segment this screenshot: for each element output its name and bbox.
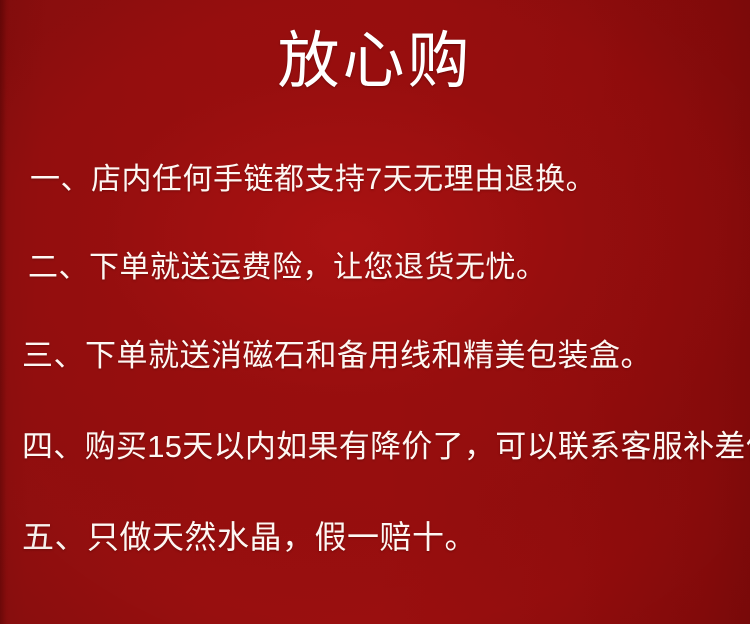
guarantee-item-2: 二、下单就送运费险，让您退货无忧。 [28,242,547,286]
guarantee-item-1: 一、店内任何手链都支持7天无理由退换。 [30,154,596,198]
guarantee-item-5: 五、只做天然水晶，假一赔十。 [22,512,477,558]
guarantee-banner: 放心购 一、店内任何手链都支持7天无理由退换。 二、下单就送运费险，让您退货无忧… [0,0,750,624]
guarantee-item-3: 三、下单就送消磁石和备用线和精美包装盒。 [22,330,652,375]
guarantee-item-4: 四、购买15天以内如果有降价了，可以联系客服补差价的 [22,421,750,466]
page-title: 放心购 [0,28,750,96]
